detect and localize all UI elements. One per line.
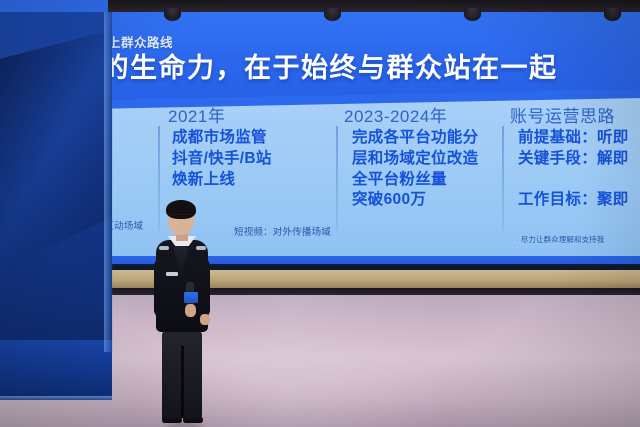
- left-wing-base: [0, 340, 112, 400]
- column-main-text: 完成各平台功能分 层和场域定位改造 全平台粉丝量 突破600万: [352, 128, 478, 211]
- speaker-arm-right: [194, 258, 210, 318]
- speaker-hand: [200, 314, 210, 325]
- speaker-glasses-icon: [169, 214, 193, 219]
- column-main-text: 成都市场监管 抖音/快手/B站 焕新上线: [172, 128, 272, 190]
- left-wing-base-glow: [0, 396, 112, 402]
- column-sub-text: 短视频：对外传播场域: [234, 226, 331, 240]
- speaker-shoe: [162, 414, 182, 423]
- speaker-figure: [138, 196, 224, 427]
- left-wing-edge-light: [104, 0, 113, 352]
- column-divider: [336, 126, 338, 230]
- speaker-leg-split: [181, 346, 184, 418]
- timeline-column: 2023-2024年 完成各平台功能分 层和场域定位改造 全平台粉丝量 突破60…: [344, 102, 447, 127]
- speaker-epaulette: [196, 246, 206, 250]
- column-bullet-text: · 尽力让群众理解和支持我: [516, 234, 604, 245]
- stage-scene: …监管 走好网上群众路线 新媒体的生命力，在于始终与群众站在一起 年 …都市场监…: [0, 0, 640, 427]
- speaker-hand-holding-mic: [185, 304, 196, 317]
- column-divider: [502, 126, 504, 230]
- timeline-column: 2021年 成都市场监管 抖音/快手/B站 焕新上线 短视频：对外传播场域: [168, 102, 225, 127]
- speaker-epaulette: [159, 246, 169, 250]
- column-year: 2023-2024年: [344, 102, 447, 127]
- stage-lamp-icon: [604, 8, 621, 21]
- stage-lamp-icon: [164, 8, 181, 21]
- truss-gap: [0, 0, 108, 12]
- stage-lamp-icon: [464, 8, 481, 21]
- stage-lamp-icon: [324, 8, 341, 21]
- speaker-shoe: [183, 414, 203, 423]
- column-main-text: 前提基础：听即 关键手段：解即 工作目标：聚即: [518, 128, 629, 211]
- microphone-flag: [184, 292, 198, 303]
- speaker-badge: [166, 272, 178, 276]
- column-year: 账号运营思路: [510, 102, 615, 127]
- column-year: 2021年: [168, 102, 225, 127]
- timeline-column: 账号运营思路 前提基础：听即 关键手段：解即 工作目标：聚即 · 尽力让群众理解…: [510, 102, 615, 127]
- speaker-arm-left: [154, 258, 170, 318]
